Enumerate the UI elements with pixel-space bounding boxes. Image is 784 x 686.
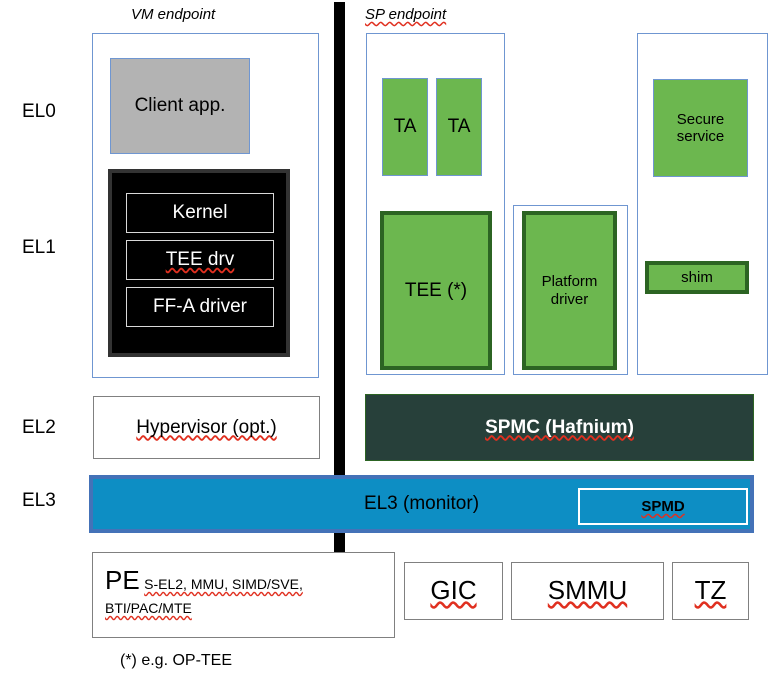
spmc-box[interactable]: SPMC (Hafnium) <box>365 394 754 461</box>
tee-label: TEE (*) <box>405 280 467 302</box>
pe-details-line2: BTI/PAC/MTE <box>105 600 192 616</box>
tee-drv-label: TEE drv <box>166 249 235 271</box>
spmd-box[interactable]: SPMD <box>578 488 748 525</box>
hypervisor-box[interactable]: Hypervisor (opt.) <box>93 396 320 459</box>
el-label-el1: EL1 <box>22 237 56 259</box>
el-label-el0-text: EL0 <box>22 101 56 122</box>
hypervisor-label: Hypervisor (opt.) <box>136 417 276 439</box>
pe-box[interactable]: PE S-EL2, MMU, SIMD/SVE, BTI/PAC/MTE <box>92 552 395 638</box>
diagram-canvas: VM endpoint SP endpoint EL0 EL1 EL2 EL3 … <box>0 0 784 686</box>
ta-box-1[interactable]: TA <box>382 78 428 176</box>
el3-monitor-box[interactable]: EL3 (monitor) SPMD <box>89 475 754 533</box>
client-app-box[interactable]: Client app. <box>110 58 250 154</box>
spmd-label: SPMD <box>641 498 684 515</box>
kernel-label: Kernel <box>173 202 228 224</box>
el-label-el3-text: EL3 <box>22 490 56 511</box>
ta-label-2: TA <box>448 116 471 138</box>
platform-driver-label-line2: driver <box>551 291 589 308</box>
gic-box[interactable]: GIC <box>404 562 503 620</box>
secure-service-box[interactable]: Secure service <box>653 79 748 177</box>
kernel-box[interactable]: Kernel <box>126 193 274 233</box>
platform-driver-label-line1: Platform <box>542 273 598 290</box>
el-label-el0: EL0 <box>22 101 56 123</box>
tee-box[interactable]: TEE (*) <box>380 211 492 370</box>
ffa-driver-box[interactable]: FF-A driver <box>126 287 274 327</box>
el-label-el2: EL2 <box>22 417 56 439</box>
el-label-el3: EL3 <box>22 490 56 512</box>
ffa-driver-label: FF-A driver <box>153 296 247 318</box>
smmu-label: SMMU <box>548 576 627 606</box>
vm-endpoint-header: VM endpoint <box>131 6 215 23</box>
platform-driver-box[interactable]: Platform driver <box>522 211 617 370</box>
shim-box[interactable]: shim <box>645 261 749 294</box>
tz-box[interactable]: TZ <box>672 562 749 620</box>
pe-details-line1: S-EL2, MMU, SIMD/SVE, <box>144 576 303 592</box>
pe-name-label: PE <box>105 565 140 595</box>
pe-second-line: BTI/PAC/MTE <box>105 598 382 620</box>
smmu-box[interactable]: SMMU <box>511 562 664 620</box>
sp-endpoint-header-label: SP endpoint <box>365 6 446 23</box>
secure-service-label-line1: Secure <box>677 111 725 128</box>
el-label-el1-text: EL1 <box>22 237 56 258</box>
vm-kernel-stack-container: Kernel TEE drv FF-A driver <box>108 169 290 357</box>
footnote-label: (*) e.g. OP-TEE <box>120 652 232 669</box>
secure-service-label-line2: service <box>677 128 725 145</box>
sp-endpoint-header: SP endpoint <box>365 6 446 23</box>
ta-label-1: TA <box>394 116 417 138</box>
el-label-el2-text: EL2 <box>22 417 56 438</box>
vm-endpoint-header-label: VM endpoint <box>131 6 215 23</box>
tz-label: TZ <box>695 576 727 606</box>
pe-first-line: PE S-EL2, MMU, SIMD/SVE, <box>105 563 382 598</box>
shim-label: shim <box>681 269 713 286</box>
gic-label: GIC <box>430 576 476 606</box>
tee-drv-box[interactable]: TEE drv <box>126 240 274 280</box>
client-app-label: Client app. <box>135 95 226 117</box>
footnote: (*) e.g. OP-TEE <box>120 652 232 670</box>
ta-box-2[interactable]: TA <box>436 78 482 176</box>
el3-monitor-label: EL3 (monitor) <box>364 493 479 515</box>
spmc-label: SPMC (Hafnium) <box>485 417 634 439</box>
